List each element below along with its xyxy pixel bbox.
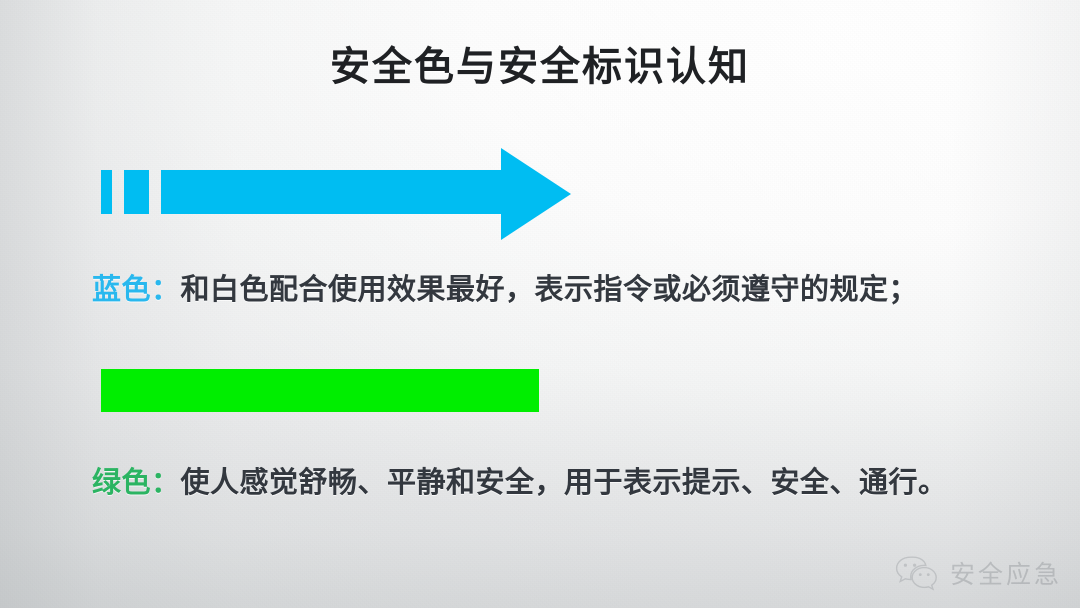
watermark: 安全应急 bbox=[894, 554, 1062, 592]
watermark-text: 安全应急 bbox=[950, 555, 1062, 591]
slide-canvas: 安全色与安全标识认知 蓝色：和白色配合使用效果最好，表示指令或必须遵守的规定； … bbox=[0, 0, 1080, 608]
description-blue: 和白色配合使用效果最好，表示指令或必须遵守的规定； bbox=[181, 274, 919, 306]
green-bar-graphic bbox=[101, 369, 539, 412]
separator-green: ： bbox=[151, 467, 181, 499]
wechat-icon bbox=[894, 554, 940, 592]
keyword-blue: 蓝色 bbox=[92, 274, 151, 306]
caption-blue: 蓝色：和白色配合使用效果最好，表示指令或必须遵守的规定； bbox=[92, 266, 918, 308]
keyword-green: 绿色 bbox=[92, 467, 151, 499]
separator-blue: ： bbox=[151, 274, 181, 306]
caption-green: 绿色：使人感觉舒畅、平静和安全，用于表示提示、安全、通行。 bbox=[92, 459, 948, 501]
description-green: 使人感觉舒畅、平静和安全，用于表示提示、安全、通行。 bbox=[181, 467, 948, 499]
blue-arrow-icon bbox=[101, 148, 571, 240]
blue-arrow-graphic bbox=[101, 148, 571, 240]
page-title: 安全色与安全标识认知 bbox=[0, 34, 1080, 92]
